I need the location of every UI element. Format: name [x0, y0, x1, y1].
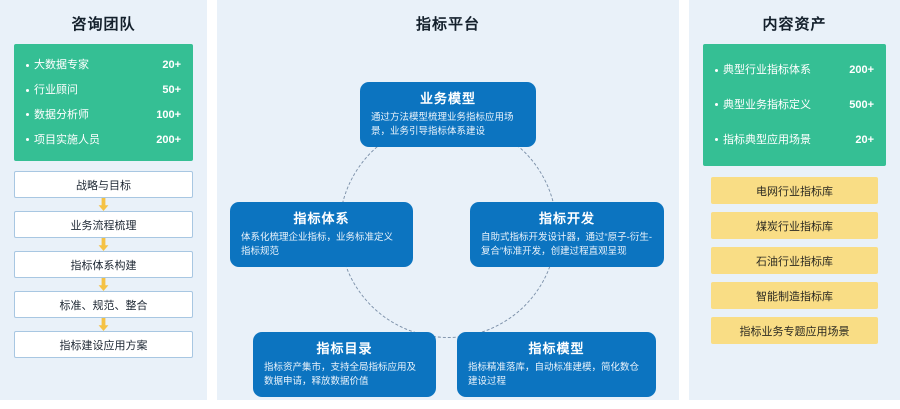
stat-label-wrapper: 典型行业指标体系 — [715, 63, 811, 77]
node-business-model[interactable]: 业务模型 通过方法模型梳理业务指标应用场景，业务引导指标体系建设 — [360, 82, 536, 147]
tag-smart-manufacturing-library[interactable]: 智能制造指标库 — [711, 282, 878, 309]
flow-step-business-process[interactable]: 业务流程梳理 — [14, 211, 193, 238]
stat-value: 20+ — [162, 58, 181, 72]
node-indicator-model[interactable]: 指标模型 指标精准落库，自动标准建模，简化数仓建设过程 — [457, 332, 656, 397]
flow-arrow-down-icon — [14, 278, 193, 291]
stat-label: 行业顾问 — [34, 83, 78, 97]
stat-value: 50+ — [162, 83, 181, 97]
panel-content-assets: 内容资产 典型行业指标体系 200+ 典型业务指标定义 500+ 指标 — [689, 0, 900, 400]
node-description: 通过方法模型梳理业务指标应用场景，业务引导指标体系建设 — [371, 111, 525, 139]
stat-value: 20+ — [855, 133, 874, 147]
stat-label: 大数据专家 — [34, 58, 89, 72]
stat-label-wrapper: 数据分析师 — [26, 108, 89, 122]
stat-value: 200+ — [849, 63, 874, 77]
tag-petroleum-library[interactable]: 石油行业指标库 — [711, 247, 878, 274]
industry-library-tag-list: 电网行业指标库 煤炭行业指标库 石油行业指标库 智能制造指标库 指标业务专题应用… — [703, 177, 886, 344]
bullet-icon — [26, 89, 29, 92]
tag-power-grid-library[interactable]: 电网行业指标库 — [711, 177, 878, 204]
stat-label: 典型业务指标定义 — [723, 98, 811, 112]
stat-label-wrapper: 指标典型应用场景 — [715, 133, 811, 147]
flow-step-strategy-goals[interactable]: 战略与目标 — [14, 171, 193, 198]
stat-label-wrapper: 项目实施人员 — [26, 133, 100, 147]
stat-label: 项目实施人员 — [34, 133, 100, 147]
stat-row: 典型业务指标定义 500+ — [713, 98, 876, 112]
flow-arrow-down-icon — [14, 198, 193, 211]
stat-row: 行业顾问 50+ — [24, 83, 183, 97]
node-description: 体系化梳理企业指标，业务标准定义指标规范 — [241, 231, 402, 259]
stat-value: 100+ — [156, 108, 181, 122]
indicator-platform-diagram: 业务模型 通过方法模型梳理业务指标应用场景，业务引导指标体系建设 指标体系 体系… — [217, 44, 679, 409]
bullet-icon — [715, 138, 718, 141]
panel-title-consulting-team: 咨询团队 — [14, 0, 193, 44]
stat-row: 项目实施人员 200+ — [24, 133, 183, 147]
node-indicator-system[interactable]: 指标体系 体系化梳理企业指标，业务标准定义指标规范 — [230, 202, 413, 267]
node-title: 指标体系 — [241, 209, 402, 228]
bullet-icon — [26, 64, 29, 67]
stat-label-wrapper: 行业顾问 — [26, 83, 78, 97]
flow-arrow-down-icon — [14, 318, 193, 331]
node-title: 指标开发 — [481, 209, 653, 228]
stat-label-wrapper: 大数据专家 — [26, 58, 89, 72]
panel-title-content-assets: 内容资产 — [703, 0, 886, 44]
bullet-icon — [26, 138, 29, 141]
node-description: 指标精准落库，自动标准建模，简化数仓建设过程 — [468, 361, 645, 389]
panel-title-indicator-platform: 指标平台 — [217, 0, 679, 44]
stat-row: 指标典型应用场景 20+ — [713, 133, 876, 147]
bullet-icon — [715, 69, 718, 72]
panel-consulting-team: 咨询团队 大数据专家 20+ 行业顾问 50+ 数据分析师 — [0, 0, 207, 400]
stat-row: 典型行业指标体系 200+ — [713, 63, 876, 77]
content-assets-stats-box: 典型行业指标体系 200+ 典型业务指标定义 500+ 指标典型应用场景 20+ — [703, 44, 886, 166]
stat-label: 典型行业指标体系 — [723, 63, 811, 77]
stat-value: 200+ — [156, 133, 181, 147]
flow-step-application-plan[interactable]: 指标建设应用方案 — [14, 331, 193, 358]
tag-business-scenario-library[interactable]: 指标业务专题应用场景 — [711, 317, 878, 344]
node-indicator-development[interactable]: 指标开发 自助式指标开发设计器，通过“原子-衍生-复合”标准开发，创建过程直观呈… — [470, 202, 664, 267]
panel-indicator-platform: 指标平台 业务模型 通过方法模型梳理业务指标应用场景，业务引导指标体系建设 指标… — [217, 0, 679, 400]
tag-coal-library[interactable]: 煤炭行业指标库 — [711, 212, 878, 239]
bullet-icon — [26, 113, 29, 116]
node-title: 业务模型 — [371, 89, 525, 108]
node-description: 指标资产集市，支持全局指标应用及数据申请，释放数据价值 — [264, 361, 425, 389]
bullet-icon — [715, 103, 718, 106]
infographic-root: 咨询团队 大数据专家 20+ 行业顾问 50+ 数据分析师 — [0, 0, 900, 400]
stat-row: 大数据专家 20+ — [24, 58, 183, 72]
node-indicator-catalog[interactable]: 指标目录 指标资产集市，支持全局指标应用及数据申请，释放数据价值 — [253, 332, 436, 397]
node-description: 自助式指标开发设计器，通过“原子-衍生-复合”标准开发，创建过程直观呈现 — [481, 231, 653, 259]
stat-label: 指标典型应用场景 — [723, 133, 811, 147]
stat-value: 500+ — [849, 98, 874, 112]
flow-step-standards[interactable]: 标准、规范、整合 — [14, 291, 193, 318]
stat-label: 数据分析师 — [34, 108, 89, 122]
node-title: 指标模型 — [468, 339, 645, 358]
node-title: 指标目录 — [264, 339, 425, 358]
stat-row: 数据分析师 100+ — [24, 108, 183, 122]
consulting-flow-list: 战略与目标 业务流程梳理 指标体系构建 标准、规范、整合 指标建设应用方案 — [14, 171, 193, 358]
flow-arrow-down-icon — [14, 238, 193, 251]
stat-label-wrapper: 典型业务指标定义 — [715, 98, 811, 112]
consulting-team-stats-box: 大数据专家 20+ 行业顾问 50+ 数据分析师 100+ — [14, 44, 193, 161]
flow-step-indicator-system[interactable]: 指标体系构建 — [14, 251, 193, 278]
